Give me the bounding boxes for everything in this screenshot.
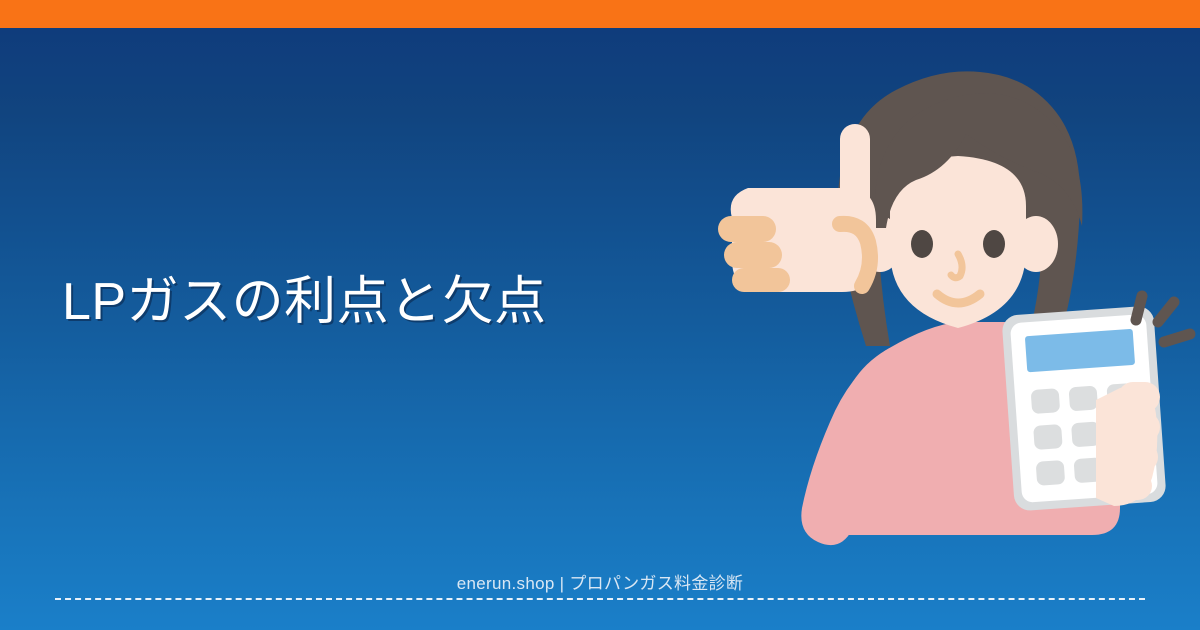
holding-finger-2	[1116, 412, 1160, 442]
holding-finger-3	[1114, 442, 1158, 472]
curled-finger-1	[718, 216, 776, 242]
calculator-key	[1033, 424, 1063, 450]
page-title: LPガスの利点と欠点	[62, 272, 547, 332]
pointing-hand	[718, 124, 876, 292]
footer-attribution: enerun.shop | プロパンガス料金診断	[0, 572, 1200, 596]
sparkle-2	[1158, 302, 1174, 322]
calculator-key	[1069, 385, 1099, 411]
sparkle-3	[1164, 334, 1190, 342]
holding-hand	[1096, 382, 1160, 506]
holding-finger-1	[1118, 382, 1160, 412]
calculator-key	[1036, 460, 1066, 486]
left-eye	[911, 230, 933, 258]
curled-finger-3	[732, 268, 790, 292]
og-image-card: LPガスの利点と欠点 enerun.shop | プロパンガス料金診断	[0, 0, 1200, 630]
calculator-key	[1031, 388, 1061, 414]
holding-finger-4	[1110, 472, 1152, 500]
curled-finger-2	[724, 242, 782, 268]
footer-dashed-rule	[55, 598, 1145, 600]
accent-bar	[0, 0, 1200, 28]
calculator-screen	[1025, 329, 1135, 372]
illustration-woman-with-calculator	[690, 28, 1200, 573]
sparkle-1	[1136, 296, 1142, 320]
right-eye	[983, 230, 1005, 258]
